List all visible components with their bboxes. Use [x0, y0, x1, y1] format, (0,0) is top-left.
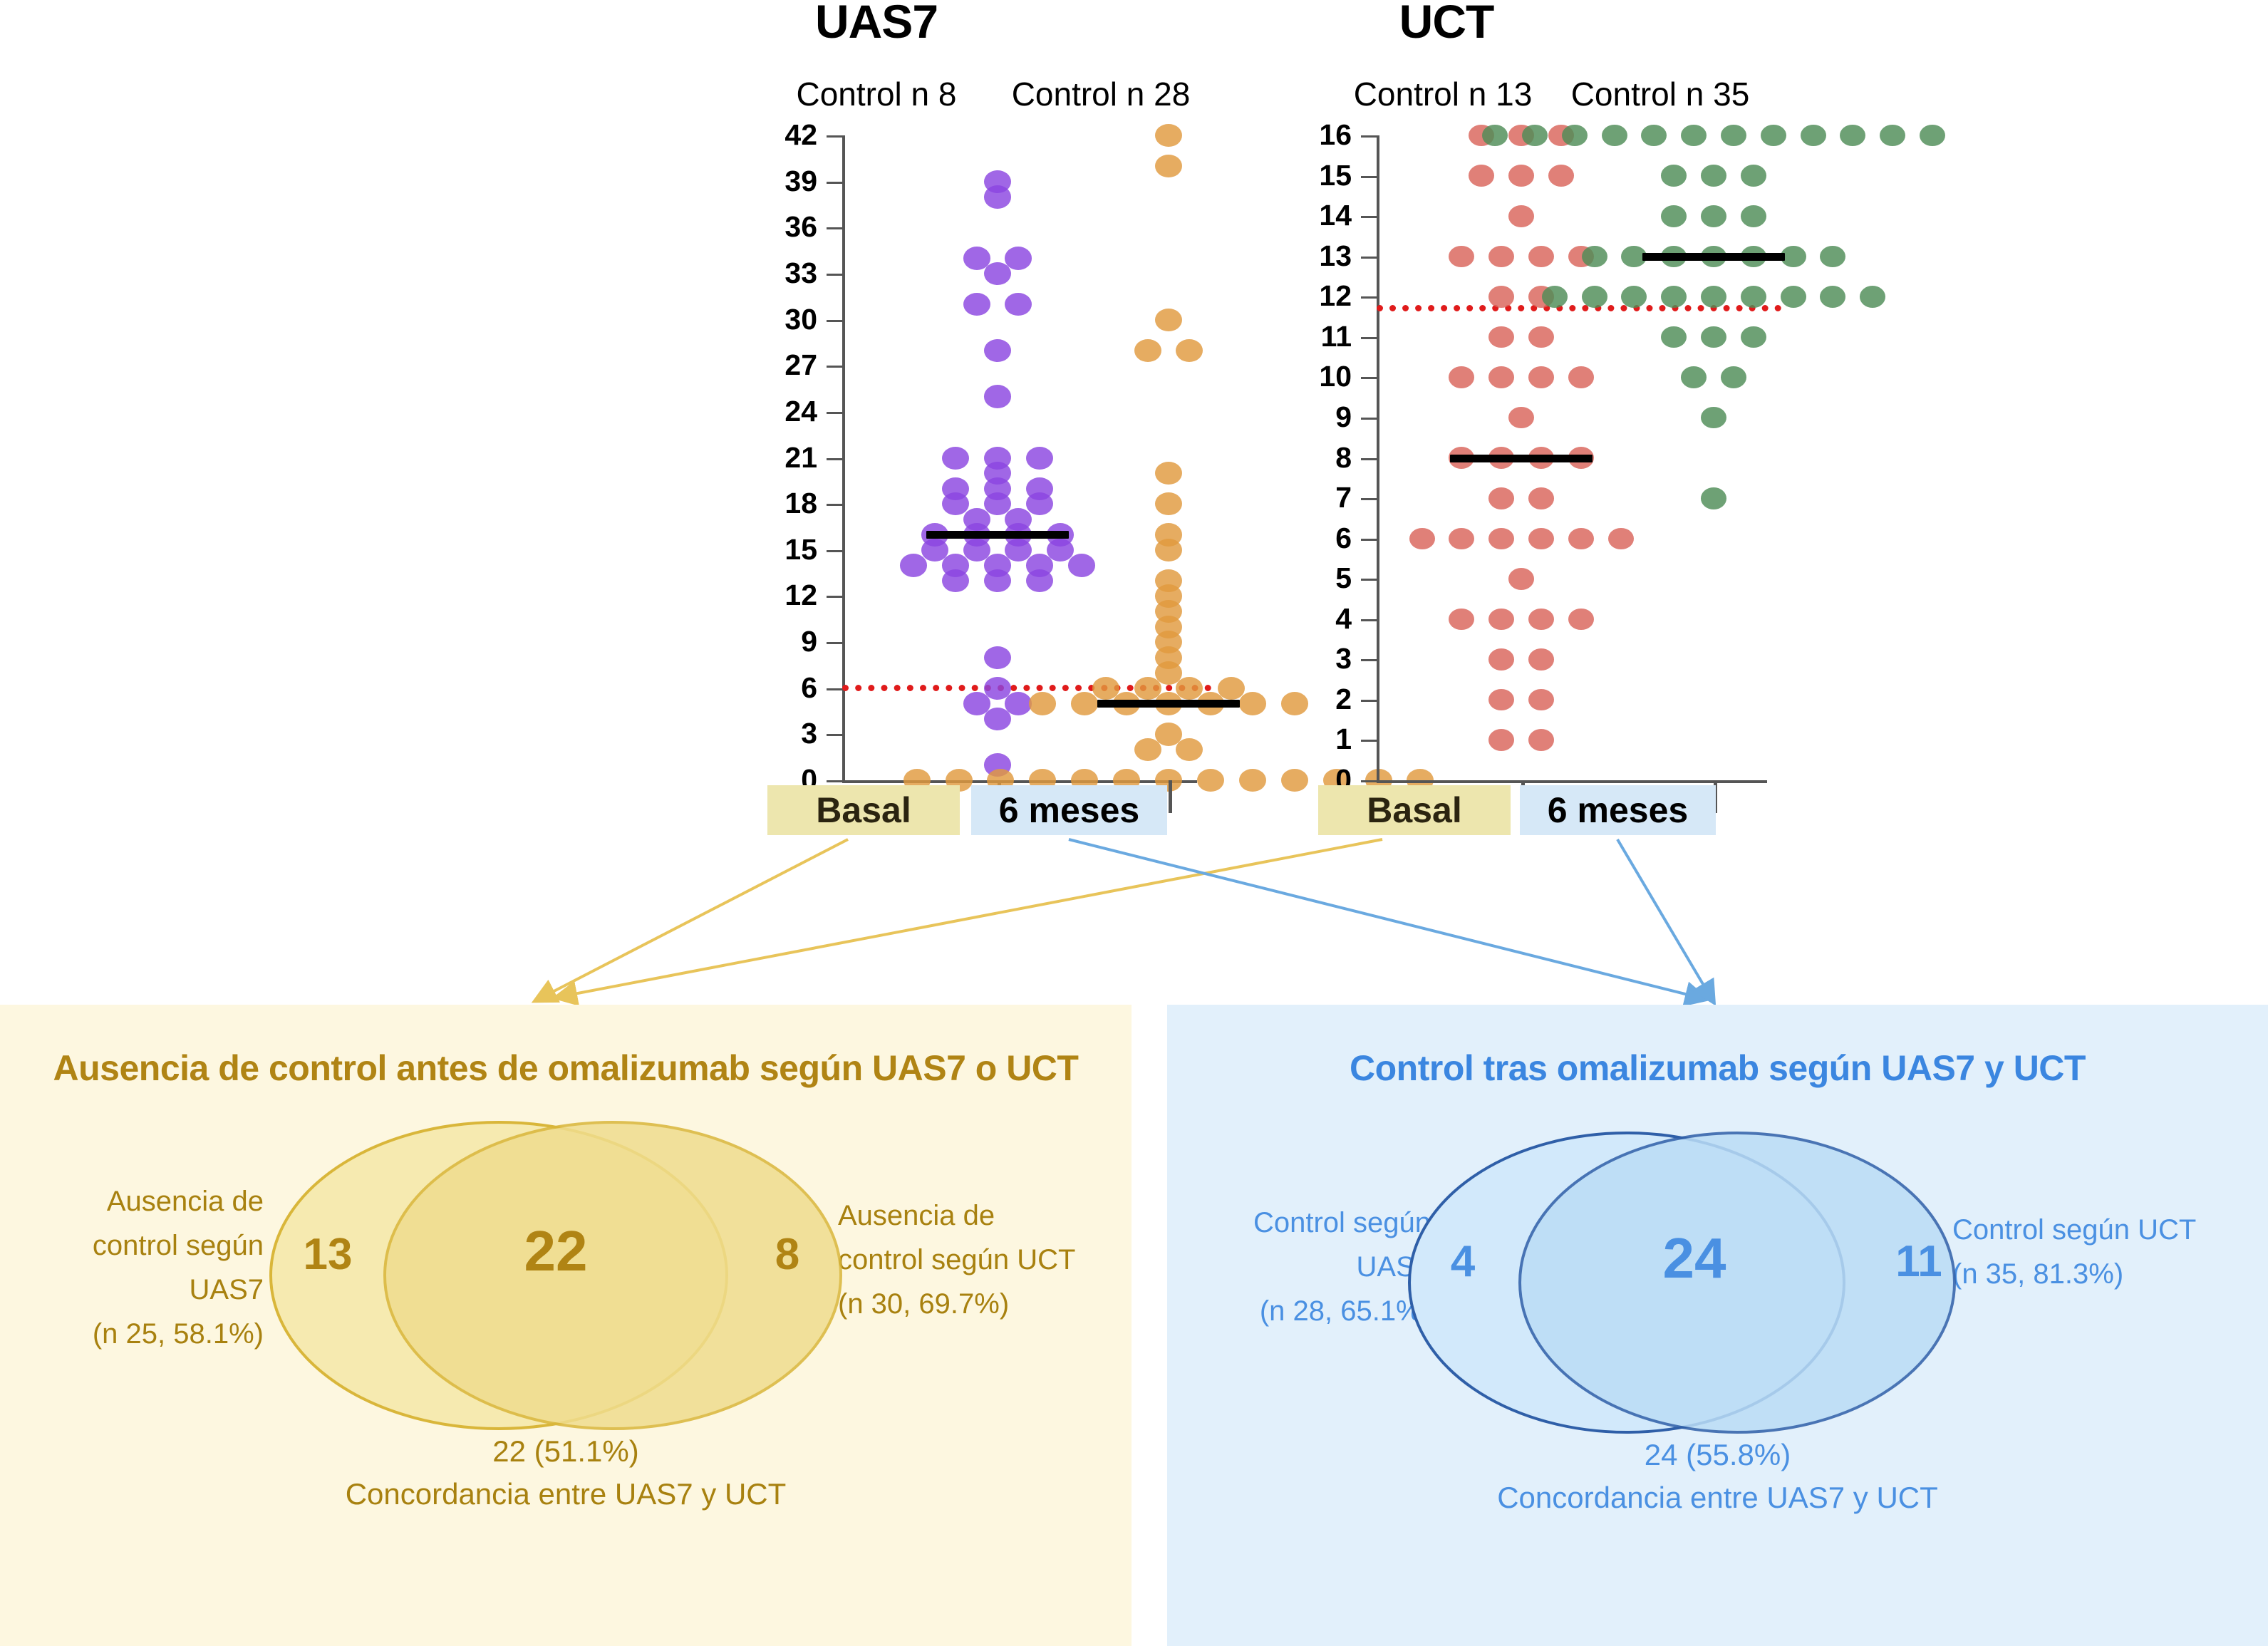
y-tick-label: 13 [1270, 242, 1352, 271]
data-point [1005, 293, 1032, 316]
y-tick-label: 33 [735, 259, 817, 288]
venn-left-intersection: 22 [492, 1218, 620, 1284]
data-point [1860, 286, 1885, 308]
data-point [1701, 205, 1726, 227]
data-point [1029, 692, 1056, 715]
group-label-uas7-6meses: Control n 28 [983, 75, 1218, 113]
data-point [1820, 246, 1845, 268]
venn-left-only-uct: 8 [752, 1229, 823, 1280]
data-point [1488, 366, 1514, 388]
data-point [1155, 155, 1182, 177]
data-point [942, 554, 969, 576]
y-tick-label: 10 [1270, 362, 1352, 391]
y-tick-label: 3 [735, 719, 817, 748]
y-tick [827, 227, 842, 229]
data-point [1528, 609, 1554, 631]
y-tick-label: 2 [1270, 685, 1352, 714]
data-point [1661, 326, 1687, 348]
y-tick-label: 14 [1270, 201, 1352, 230]
data-point [1661, 286, 1687, 308]
data-point [1409, 528, 1435, 550]
data-point [1528, 326, 1554, 348]
y-tick [827, 366, 842, 368]
data-point [942, 477, 969, 500]
data-point [984, 677, 1011, 700]
y-tick [827, 182, 842, 184]
data-point [1071, 692, 1098, 715]
data-point [1568, 528, 1594, 550]
y-tick-label: 39 [735, 167, 817, 196]
data-point [1239, 769, 1266, 792]
data-point [1721, 366, 1746, 388]
data-point [1449, 528, 1474, 550]
y-tick [1361, 498, 1377, 500]
y-tick-label: 12 [1270, 281, 1352, 311]
data-point [1155, 309, 1182, 331]
data-point [1068, 554, 1095, 576]
data-point [1781, 286, 1806, 308]
y-tick-label: 27 [735, 351, 817, 380]
y-tick [1361, 257, 1377, 259]
panel-left-caption-value: 22 (51.1%) [0, 1429, 1132, 1474]
y-tick [827, 504, 842, 506]
data-point [1701, 286, 1726, 308]
y-tick-label: 21 [735, 443, 817, 472]
data-point [1155, 569, 1182, 592]
y-tick [1361, 296, 1377, 299]
y-tick [827, 274, 842, 276]
data-point [1488, 609, 1514, 631]
data-point [1197, 769, 1224, 792]
data-point [1542, 286, 1568, 308]
data-point [1134, 677, 1161, 700]
data-point [1155, 523, 1182, 546]
y-tick [827, 135, 842, 138]
data-point [1528, 246, 1554, 268]
y-tick [1361, 740, 1377, 742]
data-point [1488, 487, 1514, 509]
panel-left-uct-label: Ausencia de control según UCT (n 30, 69.… [838, 1194, 1123, 1326]
data-point [1562, 125, 1588, 147]
data-point [1026, 554, 1053, 576]
data-point [1528, 648, 1554, 671]
data-point [1701, 165, 1726, 187]
y-tick [827, 596, 842, 598]
data-point [963, 692, 990, 715]
y-tick-label: 6 [735, 673, 817, 703]
y-tick [1361, 377, 1377, 379]
data-point [1155, 462, 1182, 485]
axis-stem [1169, 780, 1172, 813]
y-tick [1361, 176, 1377, 178]
y-tick [827, 642, 842, 644]
panel-control-after: Control tras omalizumab según UAS7 y UCT… [1167, 1005, 2268, 1646]
data-point [1155, 124, 1182, 147]
data-point [1134, 339, 1161, 362]
data-point [1880, 125, 1905, 147]
y-tick-label: 36 [735, 212, 817, 242]
data-point [1820, 286, 1845, 308]
data-point [1134, 738, 1161, 761]
data-point [1482, 125, 1508, 147]
y-tick [827, 320, 842, 322]
data-point [1582, 286, 1607, 308]
data-point [1026, 447, 1053, 470]
data-point [900, 554, 927, 576]
data-point [1641, 125, 1667, 147]
data-point [1449, 246, 1474, 268]
y-tick-label: 42 [735, 120, 817, 150]
data-point [1528, 729, 1554, 751]
y-tick [1361, 418, 1377, 420]
y-tick-label: 4 [1270, 604, 1352, 633]
data-point [984, 646, 1011, 669]
median-line [1642, 253, 1785, 261]
panel-right-uas7-label: Control según UAS7 (n 28, 65.1%) [1174, 1201, 1431, 1333]
y-tick [827, 550, 842, 552]
group-label-uct-basal: Control n 13 [1332, 75, 1553, 113]
data-point [1528, 528, 1554, 550]
data-point [1449, 366, 1474, 388]
data-point [1661, 205, 1687, 227]
venn-right-only-uas7: 4 [1424, 1236, 1502, 1287]
y-tick-label: 15 [1270, 161, 1352, 190]
y-tick [1361, 579, 1377, 581]
median-line [1097, 700, 1240, 708]
panel-right-title: Control tras omalizumab según UAS7 y UCT [1167, 1047, 2268, 1089]
venn-right-intersection: 24 [1630, 1226, 1759, 1291]
data-point [1155, 492, 1182, 515]
data-point [1488, 246, 1514, 268]
y-tick-label: 18 [735, 489, 817, 518]
median-line [926, 531, 1069, 539]
data-point [1681, 125, 1707, 147]
y-tick [1361, 135, 1377, 138]
panel-left-title: Ausencia de control antes de omalizumab … [0, 1047, 1132, 1089]
data-point [1488, 689, 1514, 711]
group-label-uas7-basal: Control n 8 [770, 75, 983, 113]
y-tick [1361, 458, 1377, 460]
data-point [1701, 326, 1726, 348]
data-point [1608, 528, 1634, 550]
data-point [963, 508, 990, 531]
y-tick-label: 1 [1270, 725, 1352, 754]
x-axis-line [842, 780, 1197, 783]
y-tick-label: 9 [735, 627, 817, 656]
y-tick [1361, 780, 1377, 782]
data-point [1602, 125, 1627, 147]
plot-uct: 012345678910111213141516 [1268, 135, 1767, 780]
data-point [1092, 677, 1119, 700]
data-point [1741, 286, 1766, 308]
y-tick-label: 9 [1270, 403, 1352, 432]
y-tick [827, 458, 842, 460]
data-point [1528, 689, 1554, 711]
y-tick [827, 688, 842, 690]
data-point [1026, 477, 1053, 500]
data-point [984, 447, 1011, 470]
data-point [1528, 366, 1554, 388]
y-tick-label: 3 [1270, 644, 1352, 673]
data-point [1488, 286, 1514, 308]
data-point [1741, 165, 1766, 187]
axis-box-uct-basal: Basal [1318, 785, 1511, 835]
data-point [1582, 246, 1607, 268]
data-point [1508, 407, 1534, 429]
median-line [1450, 455, 1593, 462]
data-point [1721, 125, 1746, 147]
data-point [1488, 648, 1514, 671]
data-point [963, 247, 990, 269]
data-point [1528, 487, 1554, 509]
y-tick [1361, 659, 1377, 661]
data-point [1741, 205, 1766, 227]
y-tick-label: 24 [735, 397, 817, 426]
y-tick-label: 7 [1270, 483, 1352, 512]
y-tick [827, 412, 842, 414]
panel-left-caption-text: Concordancia entre UAS7 y UCT [0, 1471, 1132, 1516]
data-point [984, 170, 1011, 193]
y-tick [827, 734, 842, 736]
x-axis-line [1377, 780, 1767, 783]
data-point [1681, 366, 1707, 388]
data-point [1701, 407, 1726, 429]
data-point [1005, 247, 1032, 269]
y-axis-line [1377, 135, 1379, 783]
panel-no-control-before: Ausencia de control antes de omalizumab … [0, 1005, 1132, 1646]
data-point [1155, 723, 1182, 745]
data-point [942, 447, 969, 470]
data-point [1176, 738, 1203, 761]
data-point [1621, 286, 1647, 308]
y-tick [1361, 539, 1377, 541]
data-point [1005, 692, 1032, 715]
venn-left-only-uas7: 13 [285, 1229, 371, 1280]
y-tick [1361, 700, 1377, 702]
y-tick-label: 8 [1270, 443, 1352, 472]
panel-right-caption-text: Concordancia entre UAS7 y UCT [1167, 1475, 2268, 1520]
scatter-plots-area: UAS7 Control n 8 Control n 28 0369121518… [0, 0, 2268, 983]
data-point [1761, 125, 1786, 147]
data-point [1239, 692, 1266, 715]
y-tick-label: 16 [1270, 120, 1352, 150]
y-tick [1361, 619, 1377, 621]
data-point [1548, 165, 1574, 187]
y-tick-label: 11 [1270, 322, 1352, 351]
data-point [1508, 568, 1534, 590]
data-point [1522, 125, 1548, 147]
y-tick [1361, 216, 1377, 218]
y-tick-label: 5 [1270, 564, 1352, 593]
chart-title-uas7: UAS7 [713, 0, 1040, 48]
panel-left-uas7-label: Ausencia de control según UAS7 (n 25, 58… [7, 1179, 264, 1356]
data-point [1176, 339, 1203, 362]
plot-uas7: 03691215182124273033363942 [713, 135, 1197, 780]
group-label-uct-6meses: Control n 35 [1546, 75, 1774, 113]
data-point [984, 385, 1011, 408]
data-point [1488, 729, 1514, 751]
data-point [1449, 609, 1474, 631]
y-tick [1361, 337, 1377, 339]
y-tick-label: 30 [735, 305, 817, 334]
data-point [1741, 326, 1766, 348]
y-tick-label: 15 [735, 535, 817, 564]
data-point [1661, 165, 1687, 187]
data-point [1701, 487, 1726, 509]
data-point [1488, 326, 1514, 348]
data-point [963, 293, 990, 316]
data-point [1840, 125, 1865, 147]
axis-box-uas7-6meses: 6 meses [971, 785, 1167, 835]
data-point [1568, 609, 1594, 631]
data-point [1469, 165, 1494, 187]
y-tick-label: 6 [1270, 524, 1352, 553]
chart-title-uct: UCT [1283, 0, 1610, 48]
y-tick-label: 12 [735, 581, 817, 610]
data-point [1508, 205, 1534, 227]
axis-box-uas7-basal: Basal [767, 785, 960, 835]
axis-box-uct-6meses: 6 meses [1520, 785, 1716, 835]
data-point [984, 339, 1011, 362]
panel-right-caption-value: 24 (55.8%) [1167, 1432, 2268, 1477]
y-tick [827, 780, 842, 782]
data-point [1568, 366, 1594, 388]
data-point [1801, 125, 1826, 147]
data-point [1920, 125, 1945, 147]
venn-right-only-uct: 11 [1869, 1236, 1969, 1287]
data-point [1508, 165, 1534, 187]
data-point [984, 554, 1011, 576]
data-point [1488, 528, 1514, 550]
panel-right-uct-label: Control según UCT (n 35, 81.3%) [1952, 1208, 2266, 1296]
